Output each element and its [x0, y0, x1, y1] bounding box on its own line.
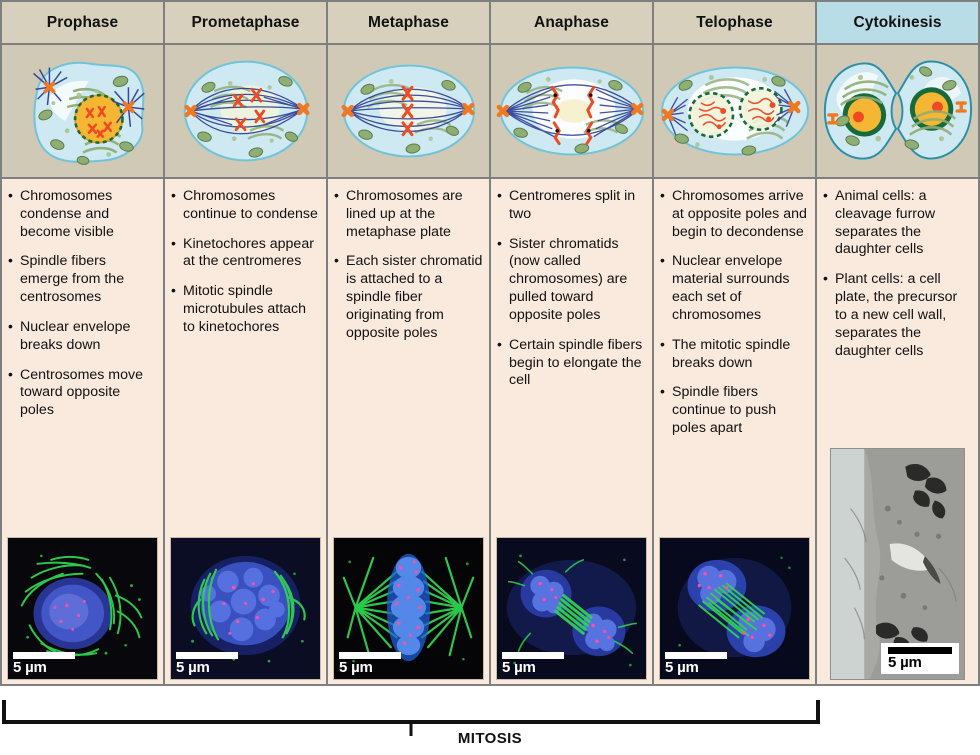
- header-label-prometaphase: Prometaphase: [191, 14, 299, 32]
- scale-bar-line: [502, 652, 564, 659]
- scale-bar-line: [339, 652, 401, 659]
- list-item: Chromosomes arrive at opposite poles and…: [659, 188, 809, 241]
- mitosis-label: MITOSIS: [0, 730, 980, 747]
- mitosis-figure: Prophase Prometaphase Metaphase Anaphase…: [0, 0, 980, 755]
- scale-bar-metaphase: 5 µm: [339, 652, 401, 675]
- bullet-list-prometaphase: Chromosomes continue to condense Kinetoc…: [170, 188, 320, 337]
- header-label-prophase: Prophase: [47, 14, 118, 32]
- list-item: Centromeres split in two: [496, 188, 646, 224]
- text-cell-prophase: Chromosomes condense and become visible …: [2, 179, 163, 684]
- scale-bar-prometaphase: 5 µm: [176, 652, 238, 675]
- list-item: Mitotic spindle microtubules attach to k…: [170, 283, 320, 336]
- list-item: Chromosomes continue to condense: [170, 188, 320, 224]
- list-item: The mitotic spindle breaks down: [659, 337, 809, 373]
- scale-bar-label: 5 µm: [13, 660, 75, 675]
- list-item: Kinetochores appear at the centromeres: [170, 236, 320, 272]
- list-item: Centrosomes move toward opposite poles: [7, 367, 157, 420]
- text-cell-telophase: Chromosomes arrive at opposite poles and…: [654, 179, 815, 684]
- header-label-cytokinesis: Cytokinesis: [853, 14, 941, 32]
- list-item: Spindle fibers continue to push poles ap…: [659, 384, 809, 437]
- scale-bar-label: 5 µm: [339, 660, 401, 675]
- list-item: Chromosomes condense and become visible: [7, 188, 157, 241]
- scale-bar-anaphase: 5 µm: [502, 652, 564, 675]
- header-cell-prophase: Prophase: [2, 2, 163, 43]
- scale-bar-label: 5 µm: [665, 660, 727, 675]
- text-cell-prometaphase: Chromosomes continue to condense Kinetoc…: [165, 179, 326, 684]
- list-item: Animal cells: a cleavage furrow separate…: [822, 188, 972, 259]
- bullet-list-cytokinesis: Animal cells: a cleavage furrow separate…: [822, 188, 972, 360]
- anaphase-cell-diagram: [491, 45, 652, 177]
- diagram-cell-metaphase: [328, 45, 489, 177]
- phase-table: Prophase Prometaphase Metaphase Anaphase…: [0, 0, 980, 686]
- text-cell-metaphase: Chromosomes are lined up at the metaphas…: [328, 179, 489, 684]
- prometaphase-cell-diagram: [165, 45, 326, 177]
- list-item: Sister chromatids (now called chromosome…: [496, 236, 646, 325]
- telophase-micrograph: 5 µm: [659, 537, 810, 680]
- list-item: Chromosomes are lined up at the metaphas…: [333, 188, 483, 241]
- scale-bar-line: [665, 652, 727, 659]
- list-item: Plant cells: a cell plate, the precursor…: [822, 271, 972, 360]
- header-cell-metaphase: Metaphase: [328, 2, 489, 43]
- header-label-anaphase: Anaphase: [534, 14, 609, 32]
- cytokinesis-cell-diagram: [817, 45, 978, 177]
- metaphase-micrograph: 5 µm: [333, 537, 484, 680]
- scale-bar-label: 5 µm: [502, 660, 564, 675]
- cytokinesis-micrograph: 5 µm: [830, 448, 965, 680]
- bullet-list-anaphase: Centromeres split in two Sister chromati…: [496, 188, 646, 390]
- anaphase-micrograph: 5 µm: [496, 537, 647, 680]
- prophase-cell-diagram: [2, 45, 163, 177]
- list-item: Spindle fibers emerge from the centrosom…: [7, 253, 157, 306]
- list-item: Certain spindle fibers begin to elongate…: [496, 337, 646, 390]
- diagram-cell-prometaphase: [165, 45, 326, 177]
- text-cell-anaphase: Centromeres split in two Sister chromati…: [491, 179, 652, 684]
- metaphase-cell-diagram: [328, 45, 489, 177]
- scale-bar-label: 5 µm: [888, 655, 952, 670]
- diagram-cell-prophase: [2, 45, 163, 177]
- list-item: Each sister chromatid is attached to a s…: [333, 253, 483, 342]
- scale-bar-prophase: 5 µm: [13, 652, 75, 675]
- prophase-micrograph: 5 µm: [7, 537, 158, 680]
- scale-bar-line: [176, 652, 238, 659]
- telophase-cell-diagram: [654, 45, 815, 177]
- bullet-list-prophase: Chromosomes condense and become visible …: [7, 188, 157, 420]
- bullet-list-metaphase: Chromosomes are lined up at the metaphas…: [333, 188, 483, 343]
- header-cell-anaphase: Anaphase: [491, 2, 652, 43]
- text-cell-cytokinesis: Animal cells: a cleavage furrow separate…: [817, 179, 978, 684]
- scale-bar-cytokinesis: 5 µm: [881, 643, 959, 674]
- list-item: Nuclear envelope material surrounds each…: [659, 253, 809, 324]
- header-label-metaphase: Metaphase: [368, 14, 449, 32]
- prometaphase-micrograph: 5 µm: [170, 537, 321, 680]
- header-label-telophase: Telophase: [696, 14, 772, 32]
- scale-bar-label: 5 µm: [176, 660, 238, 675]
- diagram-cell-anaphase: [491, 45, 652, 177]
- header-cell-cytokinesis: Cytokinesis: [817, 2, 978, 43]
- header-cell-prometaphase: Prometaphase: [165, 2, 326, 43]
- bullet-list-telophase: Chromosomes arrive at opposite poles and…: [659, 188, 809, 438]
- list-item: Nuclear envelope breaks down: [7, 319, 157, 355]
- header-cell-telophase: Telophase: [654, 2, 815, 43]
- diagram-cell-cytokinesis: [817, 45, 978, 177]
- scale-bar-line: [888, 647, 952, 654]
- diagram-cell-telophase: [654, 45, 815, 177]
- scale-bar-line: [13, 652, 75, 659]
- scale-bar-telophase: 5 µm: [665, 652, 727, 675]
